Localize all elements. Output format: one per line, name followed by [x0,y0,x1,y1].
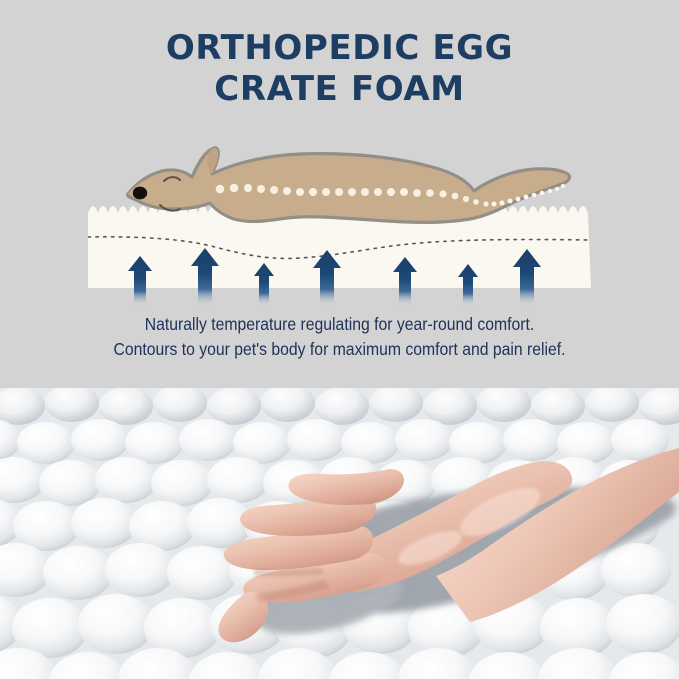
headline-line-1: ORTHOPEDIC EGG [166,28,513,68]
dog-nose [133,187,147,200]
benefit-text-block: Naturally temperature regulating for yea… [34,312,645,363]
headline-line-2: CRATE FOAM [0,69,679,110]
dog-on-foam-illustration [0,125,679,305]
egg-crate-foam-photo [0,388,679,679]
page-title: ORTHOPEDIC EGG CRATE FOAM [0,28,679,111]
benefit-line-2: Contours to your pet's body for maximum … [34,337,645,362]
benefit-line-1: Naturally temperature regulating for yea… [34,312,645,337]
top-info-panel: ORTHOPEDIC EGG CRATE FOAM [0,0,679,388]
orthopedic-foam-infographic: ORTHOPEDIC EGG CRATE FOAM [0,0,679,679]
